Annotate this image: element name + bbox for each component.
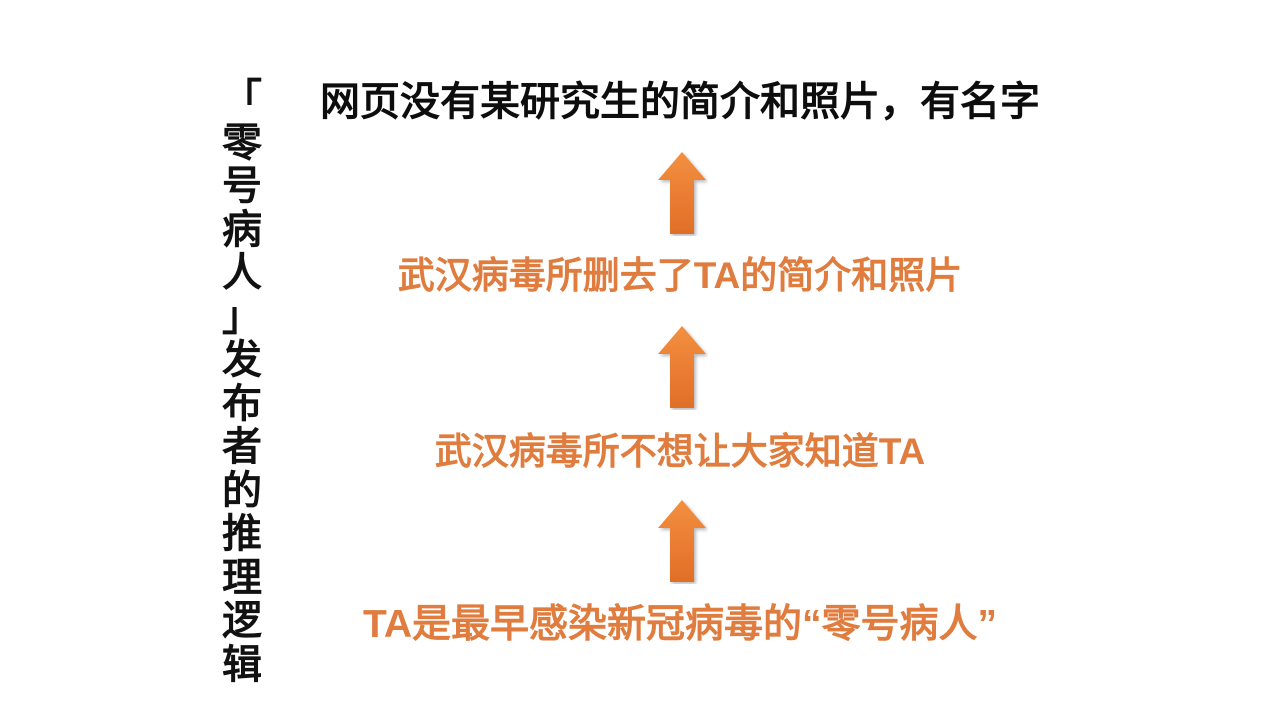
statement-step-2: 武汉病毒所不想让大家知道TA (300, 432, 1060, 473)
arrow-up-icon (656, 150, 708, 236)
slide-canvas: 「 零 号 病 人 」 发 布 者 的 推 理 逻 辑 网页没有某研究生的简介和… (0, 0, 1280, 720)
vertical-side-title: 「 零 号 病 人 」 发 布 者 的 推 理 逻 辑 (215, 78, 269, 658)
vertical-title-char: 号 (222, 165, 262, 209)
statement-conclusion: 网页没有某研究生的简介和照片，有名字 (300, 80, 1060, 124)
statement-step-3: 武汉病毒所删去了TA的简介和照片 (300, 256, 1060, 297)
vertical-title-char: 逻 (222, 600, 262, 644)
vertical-title-char: 人 (222, 252, 262, 296)
vertical-title-char: 零 (222, 122, 262, 166)
vertical-title-char: 「 (222, 78, 262, 122)
vertical-title-char: 布 (222, 383, 262, 427)
statement-step-1: TA是最早感染新冠病毒的“零号病人” (300, 604, 1060, 647)
vertical-title-char: 理 (222, 557, 262, 601)
vertical-title-char: 的 (222, 470, 262, 514)
arrow-up-icon (656, 324, 708, 410)
vertical-title-char: 推 (222, 513, 262, 557)
vertical-title-char: 」 (222, 296, 262, 340)
vertical-title-char: 病 (222, 209, 262, 253)
arrow-up-icon (656, 498, 708, 584)
vertical-title-char: 者 (222, 426, 262, 470)
vertical-title-char: 辑 (222, 644, 262, 688)
vertical-title-char: 发 (222, 339, 262, 383)
